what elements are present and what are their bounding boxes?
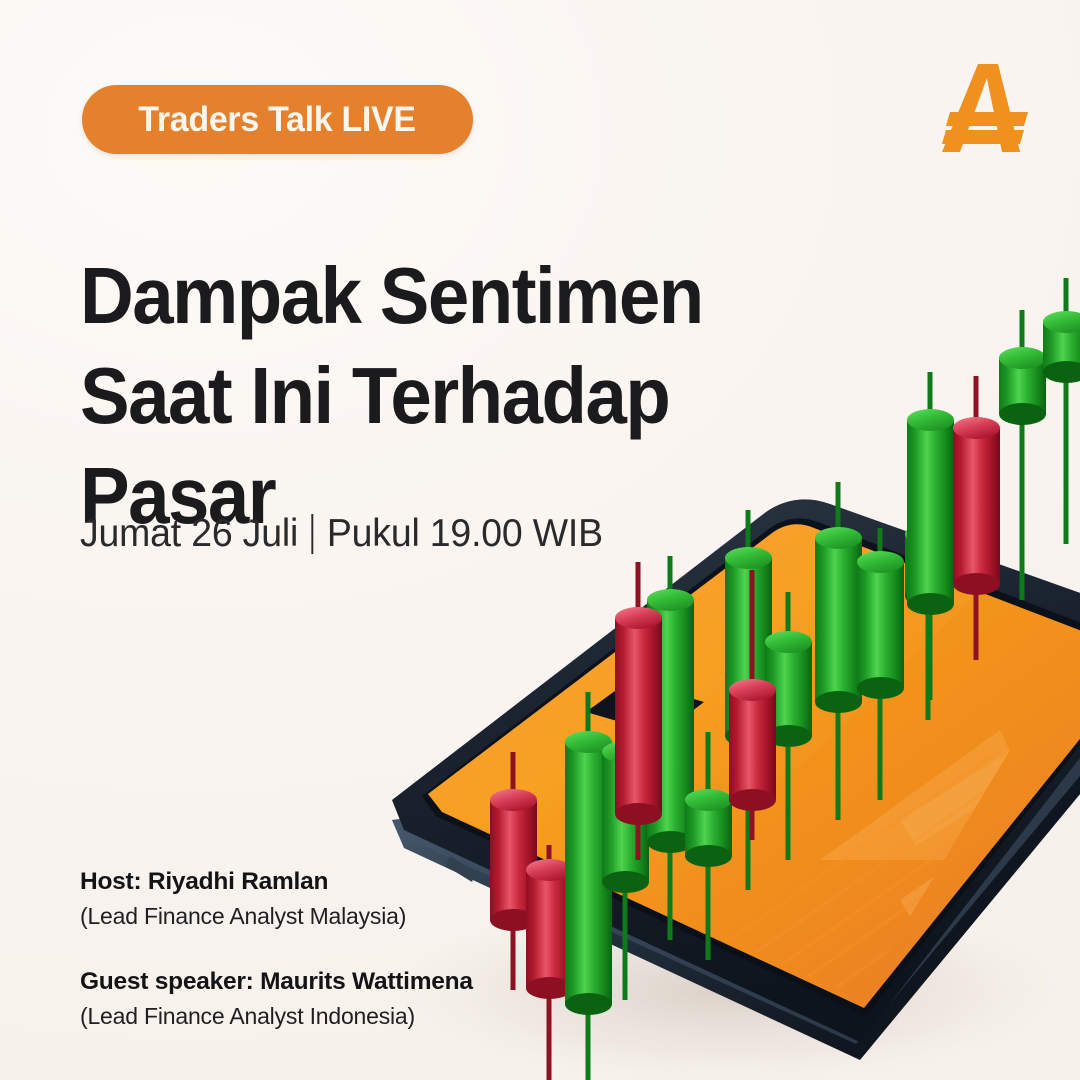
credits-block: Host: Riyadhi Ramlan (Lead Finance Analy… — [80, 866, 550, 1032]
promo-poster: Traders Talk LIVE Dampak Sentimen Saat I… — [0, 0, 1080, 1080]
credit-guest: Guest speaker: Maurits Wattimena (Lead F… — [80, 966, 550, 1032]
credit-host-name: Host: Riyadhi Ramlan — [80, 866, 550, 898]
live-badge-label: Traders Talk LIVE — [139, 100, 416, 140]
live-badge[interactable]: Traders Talk LIVE — [82, 85, 473, 154]
octa-a-logo — [936, 58, 1032, 156]
credit-guest-role: (Lead Finance Analyst Indonesia) — [80, 1000, 550, 1032]
credit-host-role: (Lead Finance Analyst Malaysia) — [80, 900, 550, 932]
candle-17 — [1043, 278, 1080, 544]
candle-16 — [999, 310, 1046, 600]
credit-host: Host: Riyadhi Ramlan (Lead Finance Analy… — [80, 866, 550, 932]
schedule-date: Jumat 26 Juli — [80, 512, 298, 556]
credit-guest-name: Guest speaker: Maurits Wattimena — [80, 966, 550, 998]
